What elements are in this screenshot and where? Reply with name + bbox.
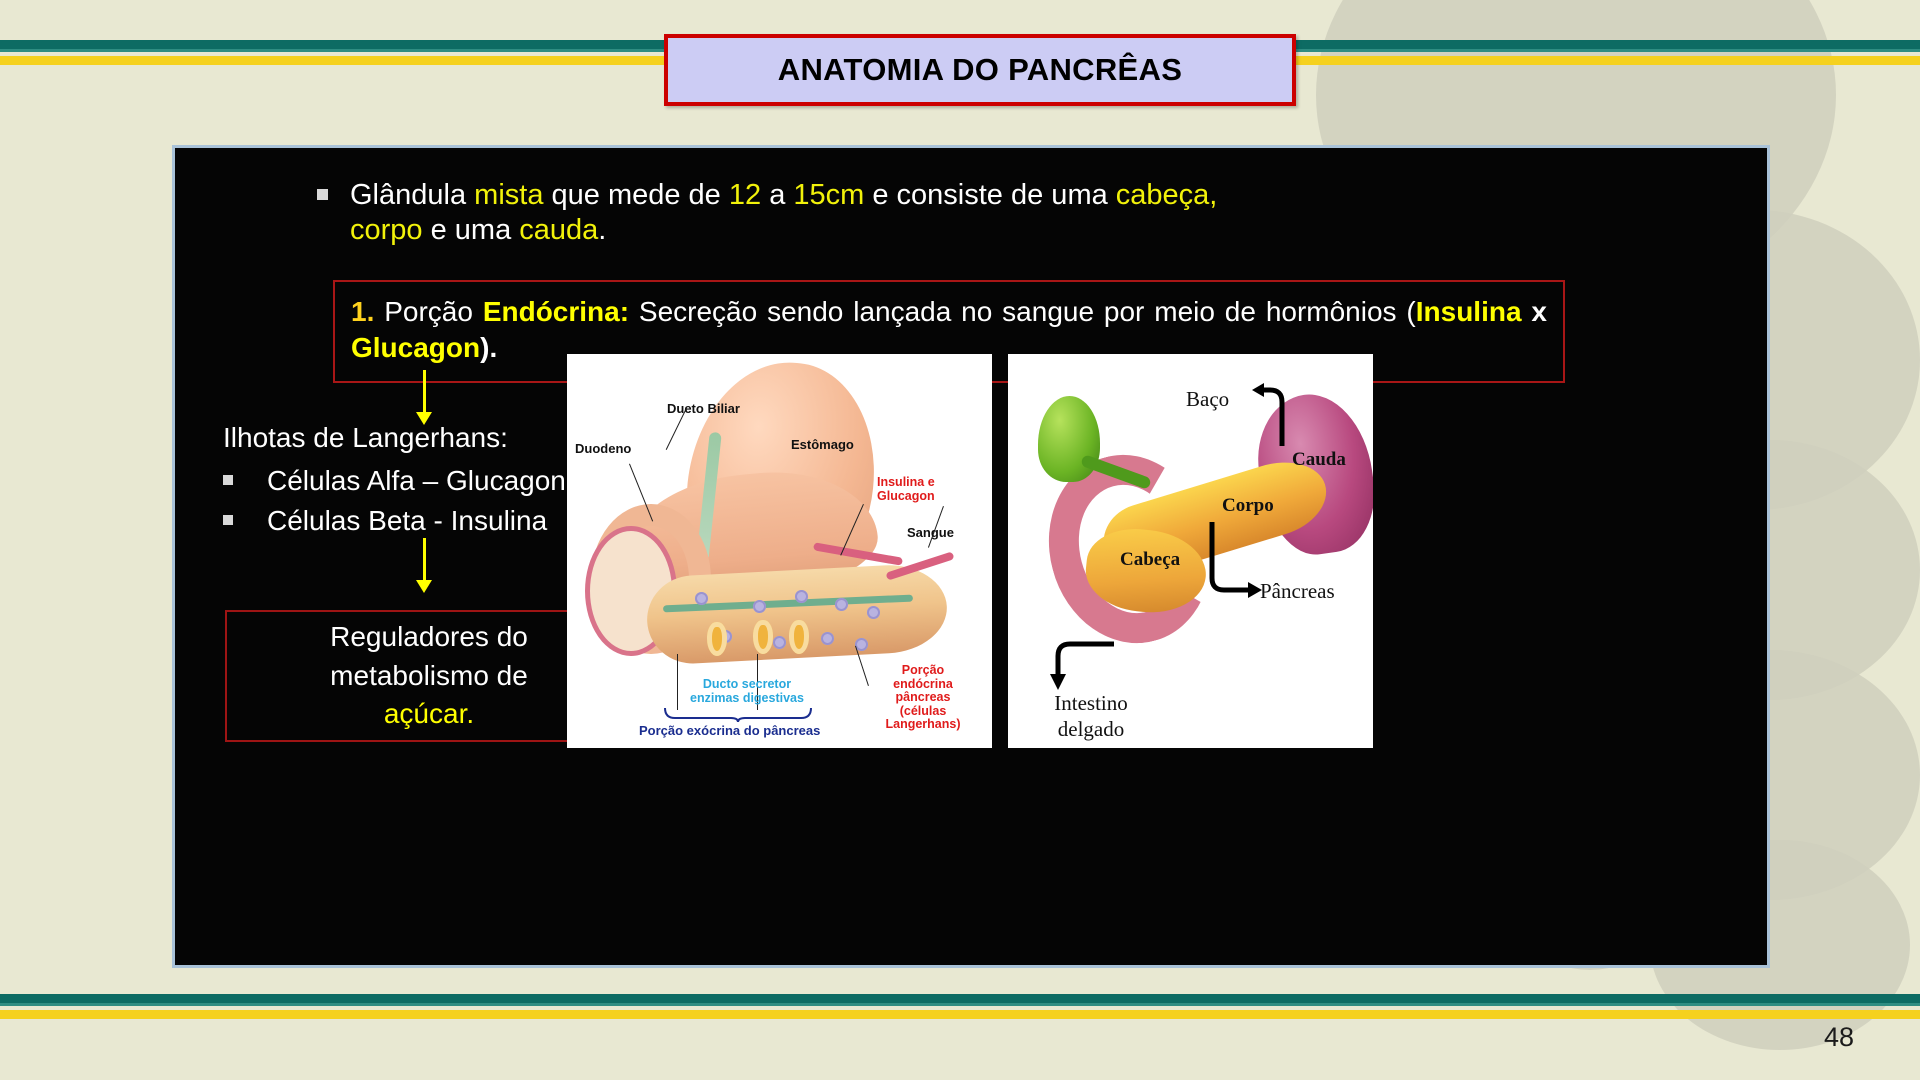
- endocrina-t2: Secreção sendo lançada no sangue por mei…: [629, 296, 1416, 327]
- islet-dot: [795, 590, 808, 603]
- acinus-shape: [789, 620, 809, 654]
- islet-dot: [753, 600, 766, 613]
- yellow-rule: [0, 1010, 1920, 1019]
- arrow-shaft: [423, 538, 426, 580]
- label-porcao-endocrina: Porção endócrina pâncreas (células Lange…: [863, 664, 983, 732]
- islet-dot: [835, 598, 848, 611]
- label-sangue: Sangue: [907, 526, 954, 540]
- arrow-down-icon: [412, 370, 436, 425]
- endocrina-keyword: Endócrina:: [483, 296, 629, 327]
- bullet-highlight-cabeca: cabeça,: [1116, 179, 1218, 211]
- figure-pancreas-digestive-diagram: Dueto Biliar Duodeno Estômago Insulina e…: [567, 354, 992, 748]
- islet-dot: [867, 606, 880, 619]
- reguladores-line2: metabolismo de: [330, 657, 528, 695]
- teal-rule: [0, 994, 1920, 1003]
- label-pancreas: Pâncreas: [1260, 580, 1335, 603]
- bullet-text-p4: e consiste de uma: [864, 179, 1115, 211]
- endocrina-insulina: Insulina: [1416, 296, 1522, 327]
- label-porcao-exocrina: Porção exócrina do pâncreas: [639, 724, 820, 738]
- endocrina-glucagon: Glucagon: [351, 332, 480, 363]
- label-cauda: Cauda: [1292, 450, 1346, 471]
- acinus-shape: [753, 620, 773, 654]
- list-item: Células Beta - Insulina: [223, 501, 623, 542]
- list-item-label: Células Alfa – Glucagon: [267, 465, 566, 496]
- endocrina-t4: ).: [480, 332, 497, 363]
- label-ducto-secretor: Ducto secretor enzimas digestivas: [677, 678, 817, 705]
- label-estomago: Estômago: [791, 438, 854, 452]
- figure-pancreas-regions-diagram: Baço Cauda Corpo Cabeça Pâncreas Intesti…: [1008, 354, 1373, 748]
- main-bullet-paragraph: Glândula mista que mede de 12 a 15cm e c…: [317, 178, 1562, 249]
- label-intestino-delgado: Intestino delgado: [1036, 690, 1146, 743]
- baco-arrow-icon: [1248, 382, 1312, 448]
- label-cabeca: Cabeça: [1120, 550, 1180, 571]
- arrow-down-icon: [412, 538, 436, 593]
- label-baco: Baço: [1186, 388, 1229, 411]
- bullet-text-p6: .: [598, 214, 606, 246]
- slide-title-box: ANATOMIA DO PANCRÊAS: [664, 34, 1296, 106]
- ilhotas-langerhans-block: Ilhotas de Langerhans: Células Alfa – Gl…: [223, 418, 623, 542]
- bullet-highlight-12: 12: [729, 179, 761, 211]
- endocrina-t1: Porção: [374, 296, 482, 327]
- label-insulina-glucagon: Insulina e Glucagon: [877, 476, 935, 503]
- reguladores-line1: Reguladores do: [330, 618, 528, 656]
- arrow-head: [416, 580, 432, 593]
- bullet-highlight-corpo: corpo: [350, 214, 423, 246]
- bullet-text-p3: a: [761, 179, 793, 211]
- bullet-square-icon: [223, 515, 233, 525]
- bullet-highlight-15cm: 15cm: [793, 179, 864, 211]
- bullet-highlight-cauda: cauda: [519, 214, 598, 246]
- islet-dot: [821, 632, 834, 645]
- bullet-highlight-mista: mista: [474, 179, 543, 211]
- content-panel: Glândula mista que mede de 12 a 15cm e c…: [172, 145, 1770, 968]
- list-item: Células Alfa – Glucagon: [223, 461, 623, 502]
- exocrine-brace-icon: [663, 706, 813, 722]
- endocrina-number: 1.: [351, 296, 374, 327]
- islet-dot: [695, 592, 708, 605]
- ilhotas-header: Ilhotas de Langerhans:: [223, 418, 623, 459]
- bullet-text-p1: Glândula: [350, 179, 474, 211]
- bullet-square-icon: [317, 189, 328, 200]
- arrow-shaft: [423, 370, 426, 412]
- bullet-square-icon: [223, 475, 233, 485]
- label-corpo: Corpo: [1222, 496, 1274, 517]
- reguladores-line3: açúcar.: [384, 695, 474, 733]
- bullet-text-p5: e uma: [423, 214, 520, 246]
- acinus-shape: [707, 622, 727, 656]
- bullet-text-p2: que mede de: [543, 179, 728, 211]
- label-duodeno: Duodeno: [575, 442, 631, 456]
- endocrina-t3: x: [1522, 296, 1547, 327]
- bottom-decorative-rules: [0, 994, 1920, 1019]
- page-number: 48: [1824, 1022, 1854, 1053]
- page-title: ANATOMIA DO PANCRÊAS: [778, 52, 1182, 88]
- islet-dot: [773, 636, 786, 649]
- list-item-label: Células Beta - Insulina: [267, 505, 547, 536]
- label-dueto-biliar: Dueto Biliar: [667, 402, 740, 416]
